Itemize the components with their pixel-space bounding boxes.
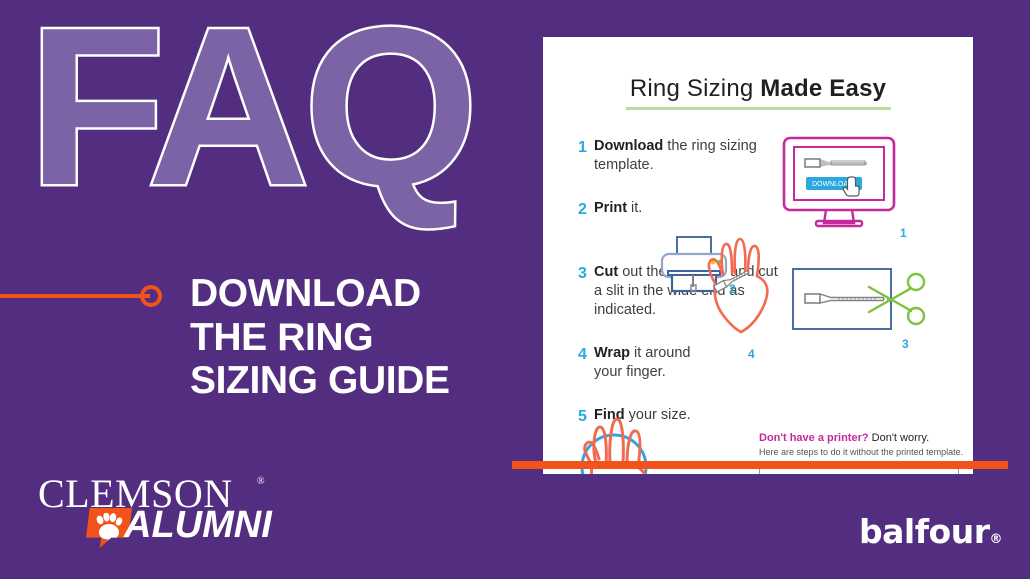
alumni-wordmark: ALUMNI — [124, 506, 272, 544]
download-button-label: DOWNLOAD — [812, 181, 853, 188]
accent-rule-line — [0, 294, 150, 298]
step-number: 5 — [578, 406, 594, 428]
card-title-regular: Ring Sizing — [630, 75, 760, 102]
step-text: Find your size. — [594, 406, 691, 428]
faq-wordmark: FAQ — [28, 0, 473, 219]
headline-line-2: THE RING — [190, 316, 520, 360]
accent-rule-dot-icon — [140, 285, 162, 307]
list-item: 5 Find your size. — [578, 406, 778, 428]
step-rest: your size. — [625, 407, 691, 423]
step-text: Wrap it around your finger. — [594, 344, 714, 382]
step-number: 2 — [578, 199, 594, 221]
step-number: 1 — [578, 137, 594, 175]
step-rest: it. — [627, 200, 642, 216]
balfour-wordmark: balfour — [859, 512, 990, 551]
monitor-download-icon: DOWNLOAD — [781, 135, 901, 230]
step-rest: out the template and cut a slit in the w… — [594, 264, 778, 318]
clemson-alumni-logo: CLEMSON ® ALUMNI — [38, 474, 288, 550]
list-item: 2 Print it. — [578, 199, 778, 221]
title-underline — [626, 107, 891, 110]
list-item: 1 Download the ring sizing template. — [578, 137, 778, 175]
slide-canvas: FAQ DOWNLOAD THE RING SIZING GUIDE CLEMS… — [0, 0, 1030, 579]
step-number: 4 — [578, 344, 594, 382]
figure-label-monitor: 1 — [900, 226, 907, 240]
step-keyword: Find — [594, 407, 625, 423]
printer-note-sub: Here are steps to do it without the prin… — [759, 447, 969, 459]
orange-accent-bar — [512, 461, 1008, 469]
step-keyword: Cut — [594, 264, 618, 280]
figure-label-scissors: 3 — [902, 337, 909, 351]
list-item: 4 Wrap it around your finger. — [578, 344, 778, 382]
card-title: Ring Sizing Made Easy — [543, 75, 973, 103]
balfour-registered-mark: ® — [990, 532, 1003, 547]
card-title-bold: Made Easy — [760, 75, 886, 102]
ring-sizing-flyer-card: Ring Sizing Made Easy 1 Download the rin… — [543, 37, 973, 474]
headline-line-3: SIZING GUIDE — [190, 359, 520, 403]
clemson-paw-icon — [94, 513, 124, 541]
list-item: 3 Cut out the template and cut a slit in… — [578, 263, 778, 320]
steps-list: 1 Download the ring sizing template. 2 P… — [578, 137, 778, 452]
cursor-hand-icon — [843, 177, 859, 196]
cut-template-scissors-icon — [791, 265, 941, 345]
step-keyword: Wrap — [594, 345, 630, 361]
printer-note-heading: Don't have a printer? Don't worry. — [759, 432, 969, 444]
printer-note: Don't have a printer? Don't worry. Here … — [759, 432, 969, 459]
step-text: Print it. — [594, 199, 642, 221]
step-keyword: Download — [594, 138, 663, 154]
step-keyword: Print — [594, 200, 627, 216]
step-number: 3 — [578, 263, 594, 320]
registered-mark: ® — [257, 476, 265, 487]
step-text: Download the ring sizing template. — [594, 137, 778, 175]
accent-rule — [0, 284, 175, 308]
printer-note-rest: Don't worry. — [869, 432, 930, 444]
headline-line-1: DOWNLOAD — [190, 272, 520, 316]
page-title: DOWNLOAD THE RING SIZING GUIDE — [190, 272, 520, 403]
balfour-logo: balfour® — [859, 512, 1002, 551]
step-text: Cut out the template and cut a slit in t… — [594, 263, 778, 320]
printer-note-bold: Don't have a printer? — [759, 432, 869, 444]
